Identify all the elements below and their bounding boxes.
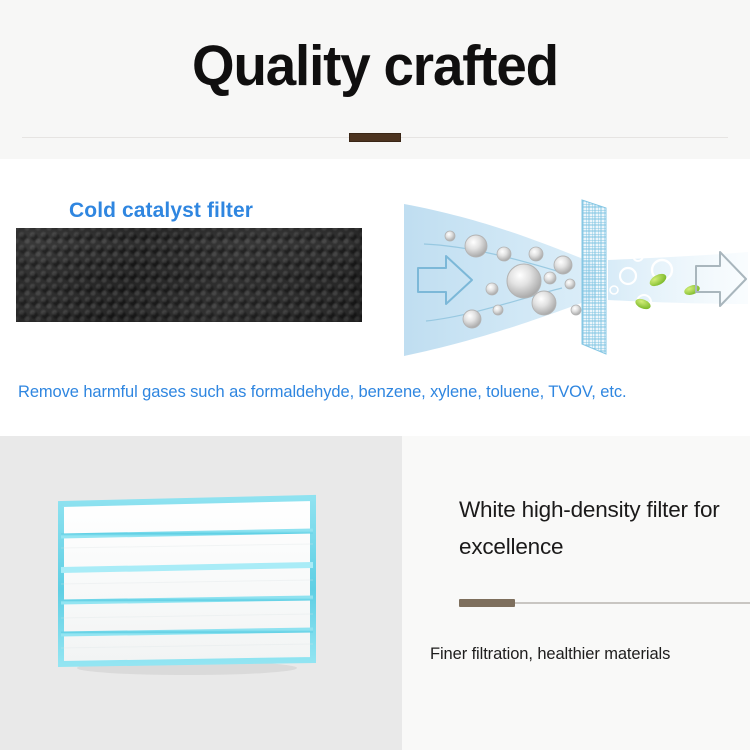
cold-catalyst-honeycomb-filter-image (16, 228, 362, 322)
white-filter-text-panel: White high-density filter for excellence… (402, 436, 750, 750)
white-filter-subtext: Finer filtration, healthier materials (430, 645, 670, 664)
white-filter-accent-bar (459, 599, 515, 607)
white-filter-image-panel (0, 436, 402, 750)
header-accent-bar (349, 133, 401, 142)
filter-mesh-screen (582, 200, 606, 354)
white-filter-section: White high-density filter for excellence… (0, 436, 750, 750)
white-filter-accent-line (515, 602, 750, 604)
cold-catalyst-section: Cold catalyst filter (0, 159, 750, 436)
cold-catalyst-caption: Remove harmful gases such as formaldehyd… (18, 383, 626, 402)
header-banner: Quality crafted (0, 0, 750, 159)
filter-sheen-overlay (16, 228, 362, 322)
white-high-density-filter-image (55, 484, 320, 676)
white-filter-heading: White high-density filter for excellence (459, 491, 749, 565)
page-title: Quality crafted (15, 34, 735, 98)
airflow-filtration-diagram (400, 186, 750, 371)
cold-catalyst-title: Cold catalyst filter (69, 199, 253, 223)
product-detail-page: Quality crafted Cold catalyst filter (0, 0, 750, 750)
